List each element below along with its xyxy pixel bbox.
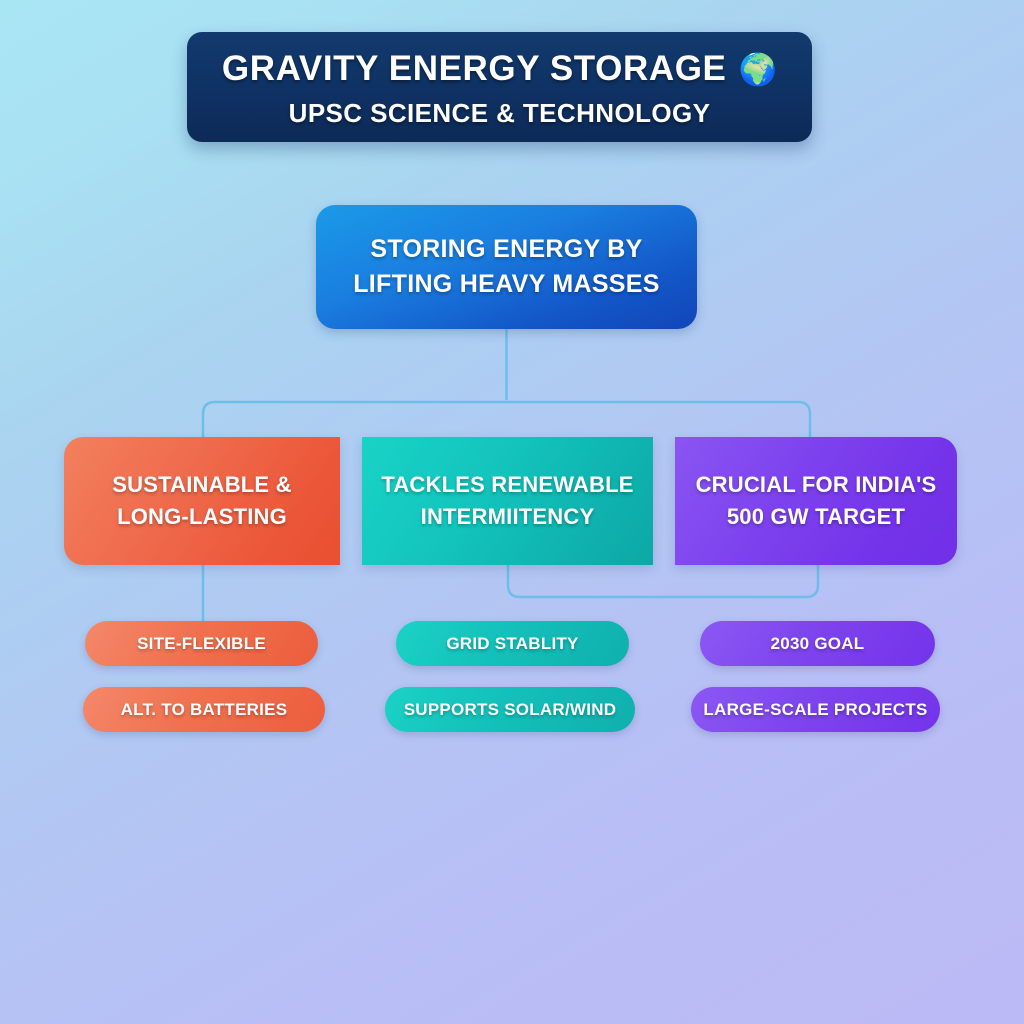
pillar-sustainable: SUSTAINABLE & LONG-LASTING [64,437,340,565]
pill-label: SUPPORTS SOLAR/WIND [404,700,617,720]
page-title: GRAVITY ENERGY STORAGE [222,49,727,89]
pillar-divider-1 [340,437,362,565]
pillar-band: SUSTAINABLE & LONG-LASTING TACKLES RENEW… [64,437,957,565]
pill-large-scale-projects: LARGE-SCALE PROJECTS [691,687,940,732]
pill-label: SITE-FLEXIBLE [137,634,266,654]
pill-label: LARGE-SCALE PROJECTS [703,700,927,720]
header-card: GRAVITY ENERGY STORAGE 🌍 UPSC SCIENCE & … [187,32,812,142]
pill-alt-to-batteries: ALT. TO BATTERIES [83,687,325,732]
pill-2030-goal: 2030 GOAL [700,621,935,666]
pill-grid-stability: GRID STABLITY [396,621,629,666]
globe-icon: 🌍 [739,54,778,85]
pill-supports-solar-wind: SUPPORTS SOLAR/WIND [385,687,635,732]
pill-site-flexible: SITE-FLEXIBLE [85,621,318,666]
header-title-row: GRAVITY ENERGY STORAGE 🌍 [222,49,777,89]
infographic-canvas: GRAVITY ENERGY STORAGE 🌍 UPSC SCIENCE & … [0,0,1024,1024]
pillar-label: SUSTAINABLE & LONG-LASTING [112,469,291,532]
header-subtitle: UPSC SCIENCE & TECHNOLOGY [289,98,711,129]
pillar-india-target: CRUCIAL FOR INDIA'S 500 GW TARGET [675,437,957,565]
pillar-divider-2 [653,437,675,565]
main-concept-node: STORING ENERGY BY LIFTING HEAVY MASSES [316,205,697,329]
pill-label: ALT. TO BATTERIES [121,700,288,720]
pillar-label: CRUCIAL FOR INDIA'S 500 GW TARGET [696,469,937,532]
pillar-label: TACKLES RENEWABLE INTERMIITENCY [381,469,633,532]
pill-label: 2030 GOAL [771,634,865,654]
pill-label: GRID STABLITY [446,634,578,654]
main-concept-label: STORING ENERGY BY LIFTING HEAVY MASSES [353,232,660,303]
pillar-intermittency: TACKLES RENEWABLE INTERMIITENCY [362,437,653,565]
